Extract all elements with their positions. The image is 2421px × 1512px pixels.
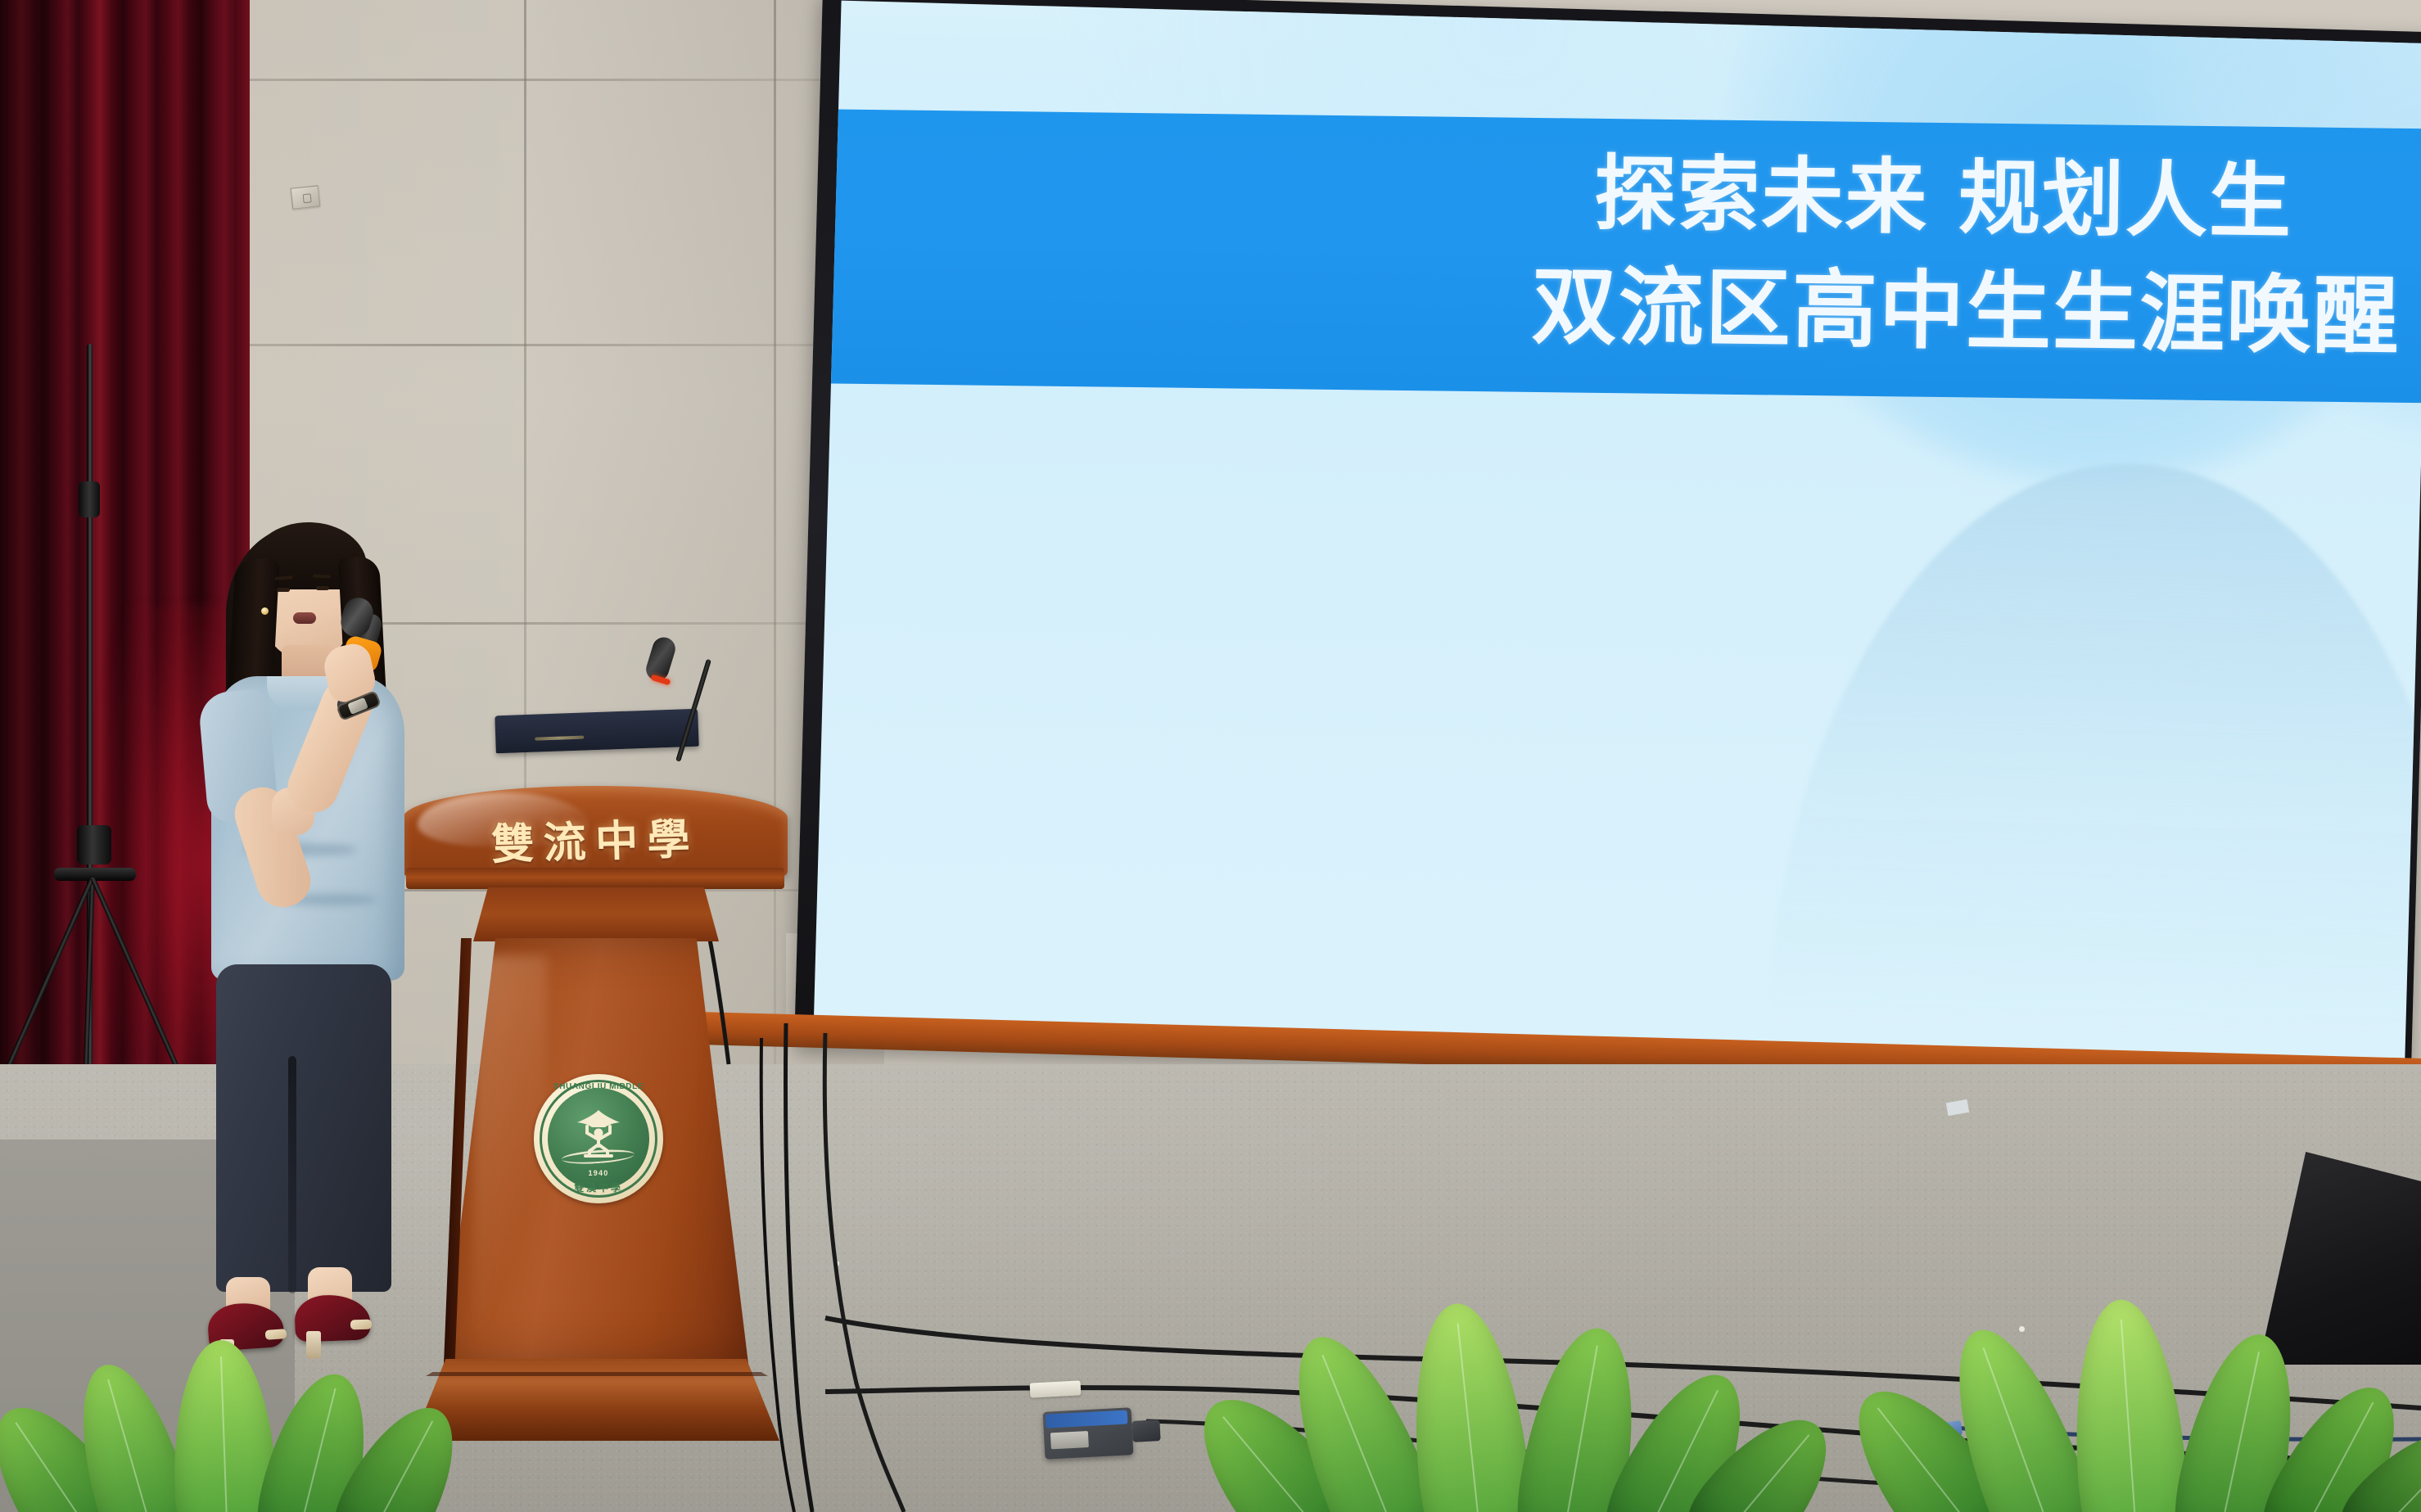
- emblem-core: 1940: [548, 1088, 649, 1189]
- slide-blue-band: 探索未来 规划人生 双流区高中生生涯唤醒: [814, 109, 2421, 405]
- emblem-year: 1940: [548, 1169, 649, 1177]
- microphone-stand[interactable]: [15, 344, 187, 1171]
- slide-title-line-1: 探索未来 规划人生: [1594, 151, 2421, 248]
- school-emblem: SHUANGLIU MIDDLE SCHOOL 1940 雙溪中學: [534, 1074, 663, 1203]
- foreground-plant-center: [1277, 1299, 1785, 1512]
- projection-screen-surface: 探索未来 规划人生 双流区高中生生涯唤醒: [814, 1, 2421, 1063]
- presentation-photo-scene: 探索未来 规划人生 双流区高中生生涯唤醒 雙流中學: [0, 0, 2421, 1512]
- foreground-plant-left: [33, 1348, 458, 1512]
- projection-screen: 探索未来 规划人生 双流区高中生生涯唤醒: [794, 0, 2421, 1088]
- power-adapter-brick: [1043, 1407, 1134, 1460]
- emblem-inner-text: 雙溪中學: [534, 1180, 663, 1194]
- podium-base: [413, 1359, 779, 1441]
- cable-connector: [1030, 1380, 1082, 1397]
- presenter-trousers: [216, 964, 391, 1292]
- wall-plate-icon: [291, 185, 321, 209]
- slide-title-line-2: 双流区高中生生涯唤醒: [1531, 262, 2421, 363]
- presenter: [196, 516, 467, 1465]
- podium-laptop: [495, 709, 698, 754]
- foreground-plant-right: [1932, 1299, 2421, 1512]
- slide-dome-shape: [1769, 454, 2421, 1045]
- presenter-earring: [261, 607, 269, 615]
- power-adapter-plug: [1131, 1419, 1160, 1442]
